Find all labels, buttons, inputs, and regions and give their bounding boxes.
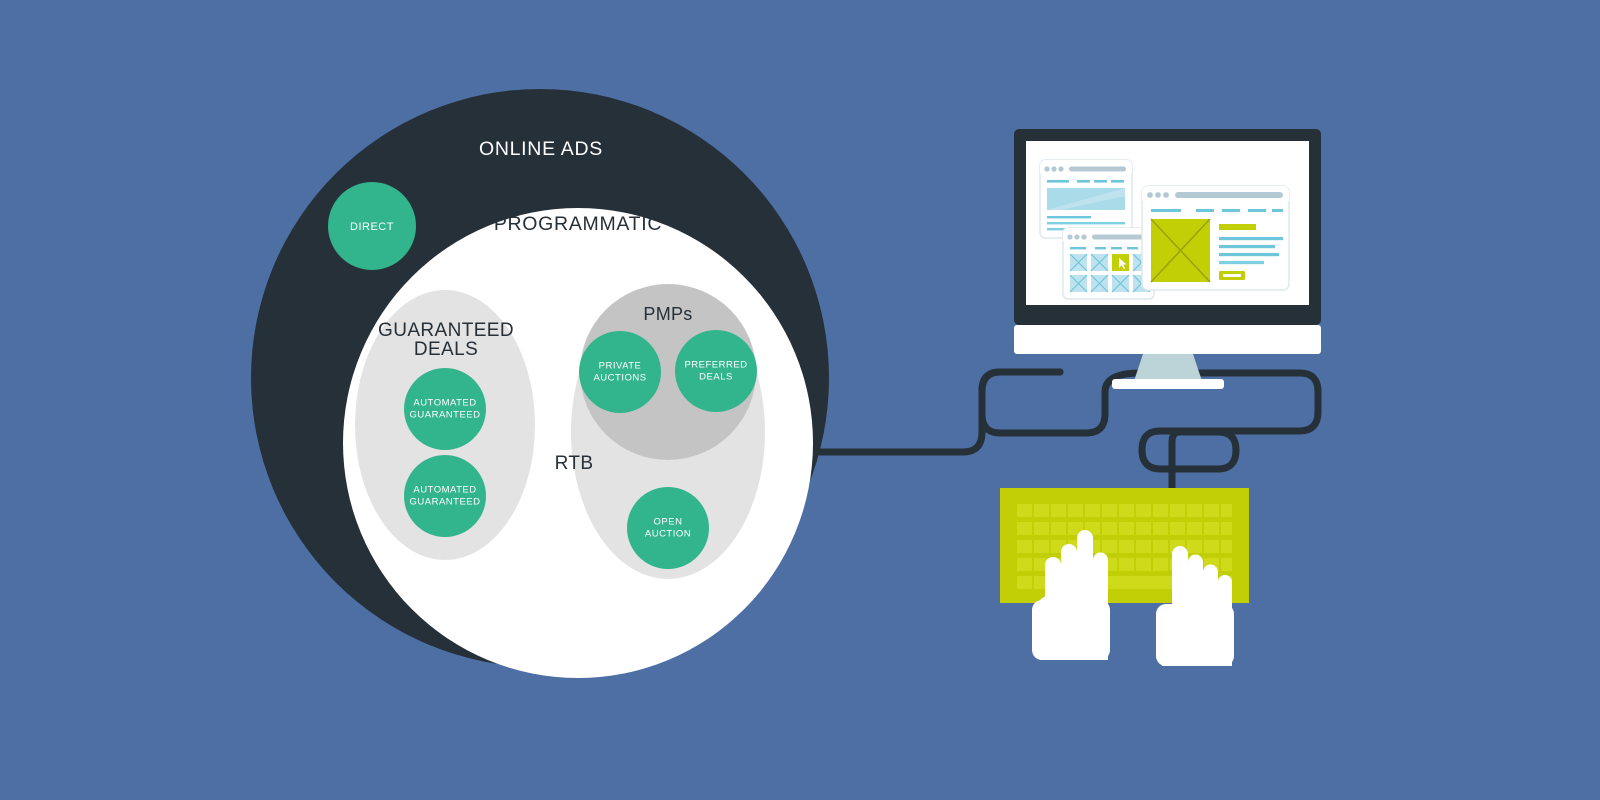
programmatic-guaranteed-label-line2: GUARANTEED bbox=[410, 497, 481, 508]
guaranteed-deals-label-line2: DEALS bbox=[414, 339, 478, 360]
window-dot-green-icon bbox=[1058, 166, 1063, 171]
browser-window-grid[interactable] bbox=[1063, 228, 1154, 299]
monitor-neck bbox=[1134, 354, 1202, 381]
window-front-textline bbox=[1219, 253, 1279, 256]
window-back-navlink bbox=[1094, 180, 1107, 183]
window-front-navlink bbox=[1272, 209, 1283, 212]
preferred-deals-label-line2: DEALS bbox=[699, 372, 733, 383]
rtb-label: RTB bbox=[555, 453, 594, 474]
programmatic-label: PROGRAMMATIC bbox=[494, 213, 662, 235]
open-auction-label-line1: OPEN bbox=[654, 517, 683, 528]
automated-guaranteed-label-line2: GUARANTEED bbox=[410, 410, 481, 421]
scene-root: ONLINE ADS DIRECT PROGRAMMATIC GUARANTEE… bbox=[0, 0, 1600, 800]
open-auction-label-line2: AUCTION bbox=[645, 529, 691, 540]
window-front-textline bbox=[1219, 261, 1264, 264]
window-front-navlink bbox=[1196, 209, 1214, 212]
window-back-addressbar[interactable] bbox=[1069, 167, 1126, 172]
window-back-navlink bbox=[1111, 180, 1124, 183]
window-grid-navlink bbox=[1111, 247, 1122, 249]
window-back-navlink bbox=[1077, 180, 1090, 183]
thumbnail-item[interactable] bbox=[1091, 254, 1108, 271]
monitor-base bbox=[1112, 379, 1224, 389]
window-front-textline bbox=[1219, 245, 1275, 248]
window-front-navlink bbox=[1222, 209, 1240, 212]
browser-window-front[interactable] bbox=[1142, 186, 1289, 290]
thumbnail-item[interactable] bbox=[1112, 275, 1129, 292]
window-dot-red-icon bbox=[1067, 234, 1072, 239]
window-dot-red-icon bbox=[1044, 166, 1049, 171]
window-back-navlink bbox=[1047, 180, 1069, 183]
monitor-chin bbox=[1014, 325, 1321, 354]
window-front-addressbar[interactable] bbox=[1175, 192, 1283, 198]
window-dot-red-icon bbox=[1147, 192, 1153, 198]
thumbnail-item[interactable] bbox=[1070, 254, 1087, 271]
direct-label: DIRECT bbox=[350, 221, 394, 233]
online-ads-label: ONLINE ADS bbox=[479, 138, 603, 160]
thumbnail-item[interactable] bbox=[1070, 275, 1087, 292]
window-dot-amber-icon bbox=[1051, 166, 1056, 171]
private-auctions-label-line2: AUCTIONS bbox=[593, 373, 646, 384]
window-front-navlink bbox=[1151, 209, 1181, 212]
window-dot-green-icon bbox=[1081, 234, 1086, 239]
pmps-label: PMPs bbox=[643, 304, 692, 324]
thumbnail-item[interactable] bbox=[1091, 275, 1108, 292]
window-front-highlight-bar bbox=[1219, 224, 1256, 230]
preferred-deals-label-line1: PREFERRED bbox=[684, 360, 747, 371]
window-grid-navlink bbox=[1095, 247, 1106, 249]
private-auctions-label-line1: PRIVATE bbox=[599, 361, 642, 372]
automated-guaranteed-label-line1: AUTOMATED bbox=[413, 398, 476, 409]
cta-button[interactable] bbox=[1219, 271, 1245, 280]
desktop-monitor[interactable] bbox=[1014, 129, 1321, 389]
thumbnail-item-highlighted[interactable] bbox=[1112, 254, 1129, 271]
guaranteed-deals-label-line1: GUARANTEED bbox=[378, 320, 514, 341]
infographic-canvas: ONLINE ADS DIRECT PROGRAMMATIC GUARANTEE… bbox=[0, 0, 1600, 800]
window-front-textline bbox=[1219, 237, 1283, 240]
window-dot-amber-icon bbox=[1155, 192, 1161, 198]
window-dot-amber-icon bbox=[1074, 234, 1079, 239]
window-dot-green-icon bbox=[1163, 192, 1169, 198]
browser-window-back[interactable] bbox=[1040, 160, 1132, 238]
window-front-navlink bbox=[1248, 209, 1266, 212]
ad-placeholder[interactable] bbox=[1151, 219, 1210, 282]
window-back-textline bbox=[1047, 216, 1091, 218]
window-grid-navlink bbox=[1070, 247, 1086, 249]
window-grid-navlink bbox=[1127, 247, 1138, 249]
programmatic-guaranteed-label-line1: AUTOMATED bbox=[413, 485, 476, 496]
window-back-textline bbox=[1047, 222, 1125, 224]
